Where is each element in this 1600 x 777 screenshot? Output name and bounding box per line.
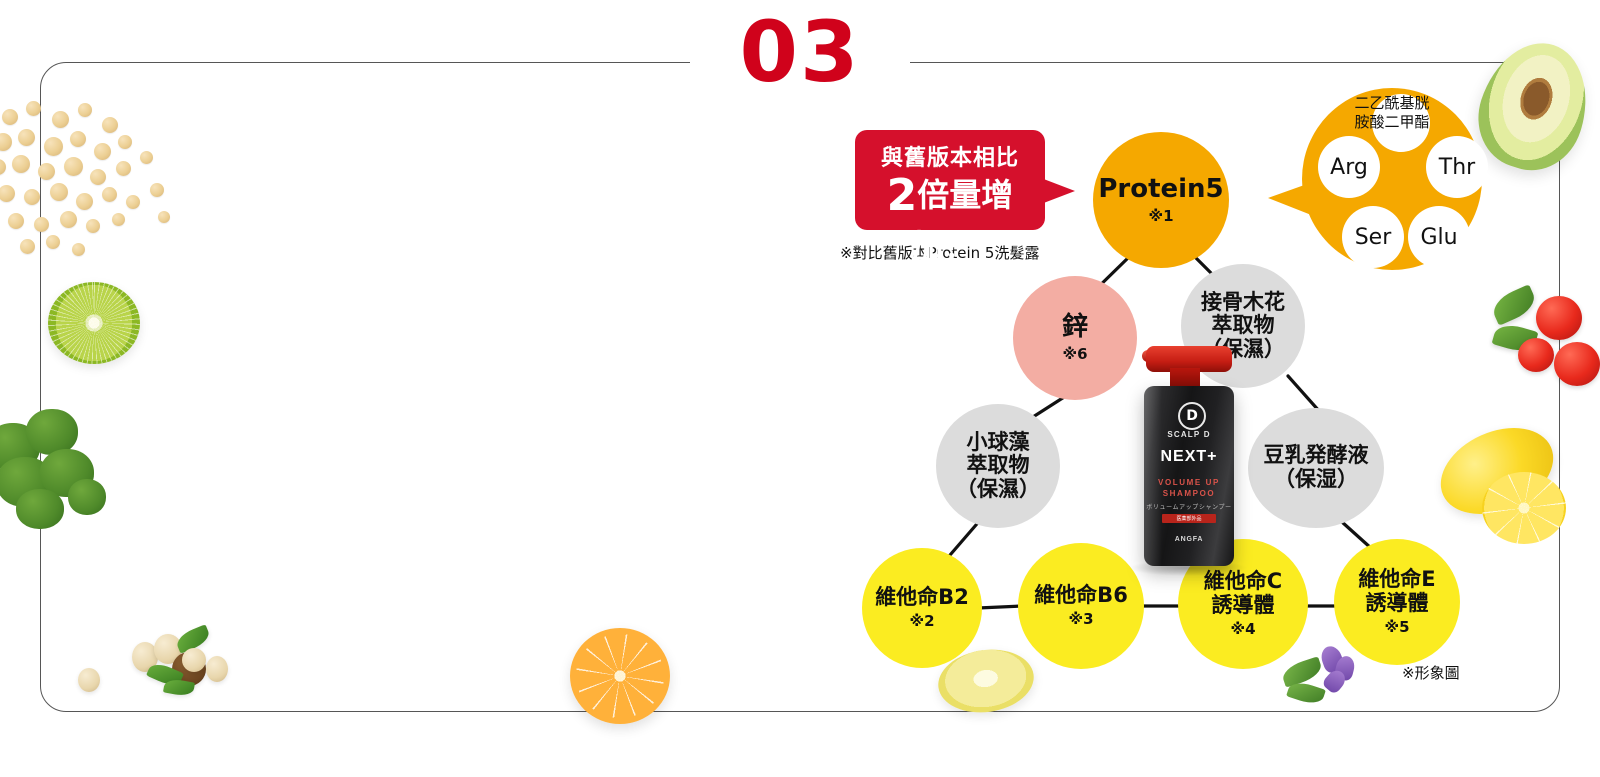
bottle-product-line: NEXT+	[1144, 448, 1234, 466]
bubble-vitamin-b2-label: 維他命B2	[875, 586, 969, 610]
bubble-soymilk-label: 豆乳発酵液 （保湿）	[1264, 444, 1369, 491]
callout-pointer	[1041, 178, 1075, 204]
bottle-next-text: NEXT	[1160, 448, 1207, 465]
bubble-vitamin-b2-note: ※2	[909, 612, 934, 630]
amino-circle-arg: Arg	[1318, 136, 1380, 198]
bubble-soymilk-ferment: 豆乳発酵液 （保湿）	[1248, 408, 1384, 528]
bubble-vitamin-e-label: 維他命E 誘導體	[1358, 568, 1435, 615]
bubble-zinc-label: 鋅	[1062, 313, 1088, 342]
image-footnote: ※形象圖	[1402, 662, 1460, 683]
increase-callout: 與舊版本相比 2倍量增加！※	[855, 130, 1045, 230]
bubble-protein5: Protein5 ※1	[1093, 132, 1229, 268]
amino-cluster-title: 二乙酰基胱 胺酸二甲酯	[1312, 94, 1472, 132]
bubble-chlorella: 小球藻 萃取物 （保濕）	[936, 404, 1060, 528]
amino-acid-cluster: 二乙酰基胱 胺酸二甲酯 Arg Thr Ser Glu	[1268, 88, 1482, 276]
slide-canvas: 03	[0, 0, 1600, 777]
bottle-plus-text: +	[1207, 448, 1217, 465]
bubble-zinc: 鋅 ※6	[1013, 276, 1137, 400]
bottle-kana: ボリュームアップシャンプー	[1144, 502, 1234, 511]
bottle-badge: 医薬部外品	[1162, 514, 1216, 523]
amino-circle-thr: Thr	[1426, 136, 1488, 198]
amino-circle-glu: Glu	[1408, 206, 1470, 268]
bubble-vitamin-b6-label: 維他命B6	[1034, 584, 1128, 608]
bubble-chlorella-label: 小球藻 萃取物 （保濕）	[956, 431, 1040, 502]
bubble-vitamin-b2: 維他命B2 ※2	[862, 548, 982, 668]
callout-multiplier: 2	[887, 170, 918, 221]
bubble-zinc-note: ※6	[1062, 345, 1087, 363]
bottle-body: D SCALP D NEXT+ VOLUME UP SHAMPOO ボリュームア…	[1144, 386, 1234, 566]
bottle-brand: SCALP D	[1144, 430, 1234, 439]
bubble-protein5-note: ※1	[1148, 207, 1173, 225]
bottle-company: ANGFA	[1144, 536, 1234, 543]
callout-line1: 與舊版本相比	[855, 140, 1045, 172]
bubble-protein5-label: Protein5	[1098, 175, 1223, 204]
scalp-d-logo-icon: D	[1178, 402, 1206, 430]
bubble-vitamin-e: 維他命E 誘導體 ※5	[1334, 539, 1460, 665]
bottle-variant: VOLUME UP SHAMPOO	[1144, 478, 1234, 500]
bubble-vitamin-b6: 維他命B6 ※3	[1018, 543, 1144, 669]
bubble-vitamin-e-note: ※5	[1384, 618, 1409, 636]
callout-increase-text: 倍量增加！	[912, 176, 1014, 265]
callout-asterisk: ※	[976, 230, 989, 245]
bubble-vitamin-c-note: ※4	[1230, 620, 1255, 638]
bubble-vitamin-c-label: 維他命C 誘導體	[1204, 570, 1282, 617]
product-bottle: D SCALP D NEXT+ VOLUME UP SHAMPOO ボリュームア…	[1136, 340, 1240, 570]
amino-circle-ser: Ser	[1342, 206, 1404, 268]
bubble-vitamin-b6-note: ※3	[1068, 610, 1093, 628]
callout-line2: 2倍量增加！※	[855, 170, 1045, 267]
